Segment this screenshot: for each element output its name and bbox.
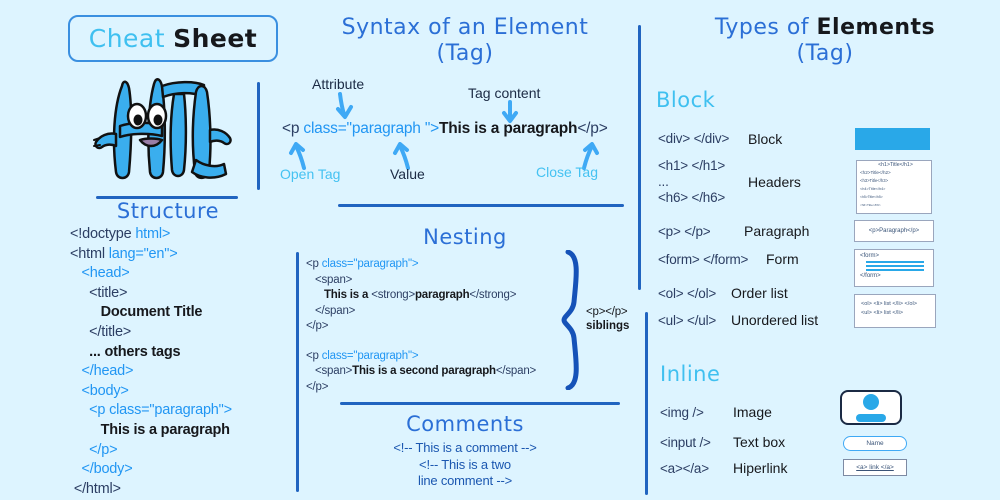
nesting-line: This is a <strong>paragraph</strong> xyxy=(306,288,536,304)
block-tag-div: <div> </div> xyxy=(658,131,729,146)
label-close-tag: Close Tag xyxy=(536,164,598,180)
divider-left-vertical xyxy=(257,82,260,190)
syntax-example-line: <p class="paragraph ">This is a paragrap… xyxy=(282,120,608,138)
thumb-header-line: <h1>Title</h1> xyxy=(857,161,931,169)
structure-code-line: </p> xyxy=(70,441,232,461)
syntax-open-tag: <p xyxy=(282,120,303,137)
html-mascot-logo xyxy=(92,68,232,190)
inline-name-img: Image xyxy=(733,404,772,420)
label-open-tag: Open Tag xyxy=(280,166,340,182)
block-tag-ol: <ol> </ol> xyxy=(658,286,716,301)
structure-code-line: <head> xyxy=(70,264,232,284)
comments-heading: Comments xyxy=(300,412,630,436)
thumb-paragraph-card: <p>Paragraph</p> xyxy=(854,220,934,242)
page-title: Cheat Sheet xyxy=(68,15,278,62)
cheat-sheet-page: Cheat Sheet xyxy=(0,0,1000,500)
structure-code-line: <html lang="en"> xyxy=(70,245,232,265)
block-name-div: Block xyxy=(748,131,782,147)
block-name-form: Form xyxy=(766,251,799,267)
structure-code-line: <title> xyxy=(70,284,232,304)
block-name-p: Paragraph xyxy=(744,223,809,239)
divider-middle-vertical xyxy=(296,252,299,492)
thumb-header-line: <h4>Title</h4> xyxy=(857,185,931,193)
syntax-close-tag: </p> xyxy=(577,120,607,137)
siblings-label: <p></p> siblings xyxy=(586,305,629,333)
thumb-list-line2: <ul> <li> list </li> xyxy=(861,309,929,318)
block-name-ul: Unordered list xyxy=(731,312,818,328)
nesting-heading: Nesting xyxy=(300,225,630,249)
thumb-header-line: <h6>Title</h6> xyxy=(857,201,931,209)
thumb-div-block xyxy=(855,128,930,150)
nesting-section-rule xyxy=(340,402,620,405)
types-heading-part3: (Tag) xyxy=(797,41,854,66)
syntax-heading: Syntax of an Element (Tag) xyxy=(300,15,630,67)
structure-code-line: ... others tags xyxy=(70,343,232,363)
structure-heading: Structure xyxy=(68,199,268,223)
structure-code-line: </head> xyxy=(70,362,232,382)
comment-line: <!-- This is a comment --> xyxy=(300,440,630,457)
thumb-form-card: <form> </form> xyxy=(854,249,934,287)
types-heading: Types of Elements (Tag) xyxy=(660,15,990,67)
structure-code-line: </html> xyxy=(70,480,232,500)
nesting-line: <p class="paragraph"> xyxy=(306,349,536,365)
label-value: Value xyxy=(390,166,425,182)
nesting-line: </p> xyxy=(306,319,536,335)
inline-name-input: Text box xyxy=(733,434,785,450)
title-cheat: Cheat xyxy=(89,24,165,53)
structure-code-line: <!doctype html> xyxy=(70,225,232,245)
thumb-list-line1: <ol> <li> list </li> </ol> xyxy=(861,300,929,309)
comments-code-block: <!-- This is a comment --><!-- This is a… xyxy=(300,440,630,490)
thumb-link-text: <a> link </a> xyxy=(856,464,894,471)
avatar-icon xyxy=(842,392,900,423)
structure-code-block: <!doctype html><html lang="en"> <head> <… xyxy=(70,225,232,499)
label-tag-content: Tag content xyxy=(468,85,540,101)
thumb-avatar-card xyxy=(840,390,902,425)
block-tag-headers: <h1> </h1> ... <h6> </h6> xyxy=(658,158,725,206)
divider-right-vertical-top xyxy=(638,25,641,290)
block-name-ol: Order list xyxy=(731,285,788,301)
nesting-line: <span> xyxy=(306,273,536,289)
thumb-paragraph-text: <p>Paragraph</p> xyxy=(869,228,919,234)
siblings-word: siblings xyxy=(586,320,629,332)
nesting-gap xyxy=(306,335,536,349)
syntax-section-rule xyxy=(338,204,624,207)
thumb-form-open: <form> xyxy=(860,253,928,259)
syntax-tag-content: This is a paragraph xyxy=(439,120,577,137)
thumb-input-placeholder: Name xyxy=(866,440,883,447)
comment-line: <!-- This is a two xyxy=(300,457,630,474)
thumb-form-close: </form> xyxy=(860,273,928,279)
divider-right-vertical-bottom xyxy=(645,312,648,495)
block-section-heading: Block xyxy=(656,88,715,112)
thumb-form-fields xyxy=(866,261,928,271)
thumb-header-line: <h2>Title</h2> xyxy=(857,169,931,177)
syntax-heading-line1: Syntax of an Element xyxy=(342,15,589,40)
syntax-attribute: class="paragraph "> xyxy=(303,120,439,137)
inline-tag-img: <img /> xyxy=(660,405,704,420)
structure-code-line: <body> xyxy=(70,382,232,402)
inline-tag-a: <a></a> xyxy=(660,461,709,476)
types-heading-part2: Elements xyxy=(817,15,936,40)
syntax-heading-line2: (Tag) xyxy=(437,41,494,66)
nesting-line: </p> xyxy=(306,380,536,396)
block-tag-ul: <ul> </ul> xyxy=(658,313,716,328)
nesting-line: </span> xyxy=(306,304,536,320)
block-tag-form: <form> </form> xyxy=(658,252,748,267)
inline-section-heading: Inline xyxy=(660,362,720,386)
inline-tag-input: <input /> xyxy=(660,435,711,450)
nesting-line: <p class="paragraph"> xyxy=(306,257,536,273)
structure-code-line: <p class="paragraph"> xyxy=(70,401,232,421)
label-attribute: Attribute xyxy=(312,76,364,92)
siblings-tag-text: <p></p> xyxy=(586,306,627,318)
block-name-headers: Headers xyxy=(748,174,801,190)
thumb-headers-card: <h1>Title</h1><h2>Title</h2><h3>Title</h… xyxy=(856,160,932,214)
thumb-link-card: <a> link </a> xyxy=(843,459,907,476)
comment-line: line comment --> xyxy=(300,473,630,490)
structure-code-line: </title> xyxy=(70,323,232,343)
inline-name-a: Hiperlink xyxy=(733,460,787,476)
arrow-attribute-icon xyxy=(330,92,356,120)
structure-code-line: </body> xyxy=(70,460,232,480)
thumb-input-pill: Name xyxy=(843,436,907,451)
block-tag-p: <p> </p> xyxy=(658,224,710,239)
thumb-header-line: <h3>Title</h3> xyxy=(857,177,931,185)
thumb-list-card: <ol> <li> list </li> </ol> <ul> <li> lis… xyxy=(854,294,936,328)
structure-code-line: Document Title xyxy=(70,303,232,323)
thumb-header-line: <h5>Title</h5> xyxy=(857,193,931,201)
types-heading-part1: Types of xyxy=(715,15,817,40)
structure-code-line: This is a paragraph xyxy=(70,421,232,441)
nesting-code-block: <p class="paragraph"> <span> This is a <… xyxy=(306,257,536,395)
nesting-line: <span>This is a second paragraph</span> xyxy=(306,364,536,380)
title-sheet: Sheet xyxy=(173,24,257,53)
